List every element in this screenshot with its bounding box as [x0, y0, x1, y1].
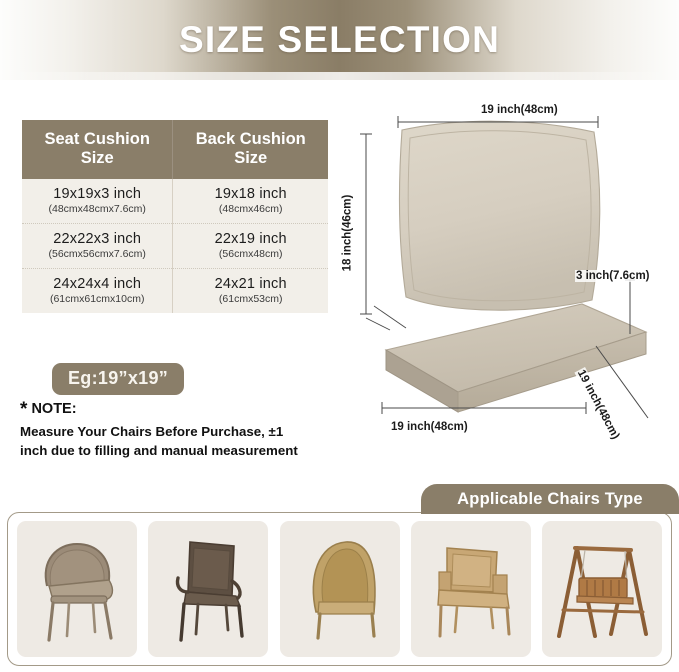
- dimension-label-seat-width: 19 inch(48cm): [390, 421, 469, 433]
- chair-card-tan-barrel-wicker-chair[interactable]: [280, 521, 400, 657]
- column-header-back-cushion-size: Back Cushion Size: [173, 120, 328, 179]
- back-size-cm: (48cmx46cm): [177, 203, 324, 215]
- seat-size-cm: (61cmx61cmx10cm): [26, 293, 168, 305]
- header-banner: SIZE SELECTION: [0, 0, 679, 80]
- note-text: Measure Your Chairs Before Purchase, ±1 …: [20, 423, 310, 461]
- back-size-inch: 24x21 inch: [177, 276, 324, 292]
- table-row: 24x24x4 inch (61cmx61cmx10cm) 24x21 inch…: [22, 268, 328, 313]
- size-table: Seat Cushion Size Back Cushion Size 19x1…: [22, 120, 328, 313]
- seat-size-inch: 19x19x3 inch: [26, 186, 168, 202]
- back-size-cm: (56cmx48cm): [177, 248, 324, 260]
- note-line-1: Measure Your Chairs Before Purchase, ±1: [20, 423, 310, 442]
- chair-card-wooden-porch-swing[interactable]: [542, 521, 662, 657]
- seat-size-cm: (56cmx56cmx7.6cm): [26, 248, 168, 260]
- example-size-badge: Eg:19”x19”: [52, 363, 184, 395]
- round-back-wicker-stacking-chair-icon: [23, 528, 131, 650]
- cell-back-size: 24x21 inch (61cmx53cm): [173, 268, 328, 313]
- natural-wicker-armchair-icon: [417, 528, 525, 650]
- note-line-2: inch due to filling and manual measureme…: [20, 442, 310, 461]
- note-heading: * NOTE:: [20, 400, 310, 419]
- cell-seat-size: 19x19x3 inch (48cmx48cmx7.6cm): [22, 179, 173, 224]
- chair-card-natural-wicker-armchair[interactable]: [411, 521, 531, 657]
- chair-card-round-back-wicker-stacking-chair[interactable]: [17, 521, 137, 657]
- dimension-label-seat-thickness: 3 inch(7.6cm): [575, 270, 651, 282]
- table-header-row: Seat Cushion Size Back Cushion Size: [22, 120, 328, 179]
- cushion-diagram: 19 inch(48cm) 18 inch(46cm) 3 inch(7.6cm…: [330, 92, 679, 452]
- cell-back-size: 19x18 inch (48cmx46cm): [173, 179, 328, 224]
- chair-card-dark-brown-wicker-dining-armchair[interactable]: [148, 521, 268, 657]
- applicable-chairs-container: [7, 512, 672, 666]
- tan-barrel-wicker-chair-icon: [286, 528, 394, 650]
- back-size-inch: 22x19 inch: [177, 231, 324, 247]
- seat-cushion-shape: [386, 304, 646, 412]
- seat-size-inch: 24x24x4 inch: [26, 276, 168, 292]
- back-cushion-shape: [399, 121, 599, 310]
- cell-back-size: 22x19 inch (56cmx48cm): [173, 223, 328, 268]
- dark-brown-wicker-dining-armchair-icon: [154, 528, 262, 650]
- page-title: SIZE SELECTION: [179, 19, 500, 61]
- back-size-cm: (61cmx53cm): [177, 293, 324, 305]
- seat-size-inch: 22x22x3 inch: [26, 231, 168, 247]
- dimension-label-back-height: 18 inch(46cm): [341, 194, 353, 273]
- applicable-chairs-tab: Applicable Chairs Type: [421, 484, 679, 514]
- dimension-label-back-width: 19 inch(48cm): [480, 104, 559, 116]
- table-row: 22x22x3 inch (56cmx56cmx7.6cm) 22x19 inc…: [22, 223, 328, 268]
- leader-ticks: [366, 306, 406, 330]
- cell-seat-size: 24x24x4 inch (61cmx61cmx10cm): [22, 268, 173, 313]
- seat-size-cm: (48cmx48cmx7.6cm): [26, 203, 168, 215]
- wooden-porch-swing-icon: [547, 528, 657, 650]
- note-block: * NOTE: Measure Your Chairs Before Purch…: [20, 400, 310, 461]
- column-header-seat-cushion-size: Seat Cushion Size: [22, 120, 173, 179]
- cell-seat-size: 22x22x3 inch (56cmx56cmx7.6cm): [22, 223, 173, 268]
- asterisk-icon: *: [20, 399, 27, 420]
- back-size-inch: 19x18 inch: [177, 186, 324, 202]
- size-selection-infographic: SIZE SELECTION Seat Cushion Size Back Cu…: [0, 0, 679, 672]
- note-heading-label: NOTE:: [31, 401, 76, 417]
- applicable-chairs-tab-label: Applicable Chairs Type: [457, 490, 643, 509]
- table-row: 19x19x3 inch (48cmx48cmx7.6cm) 19x18 inc…: [22, 179, 328, 224]
